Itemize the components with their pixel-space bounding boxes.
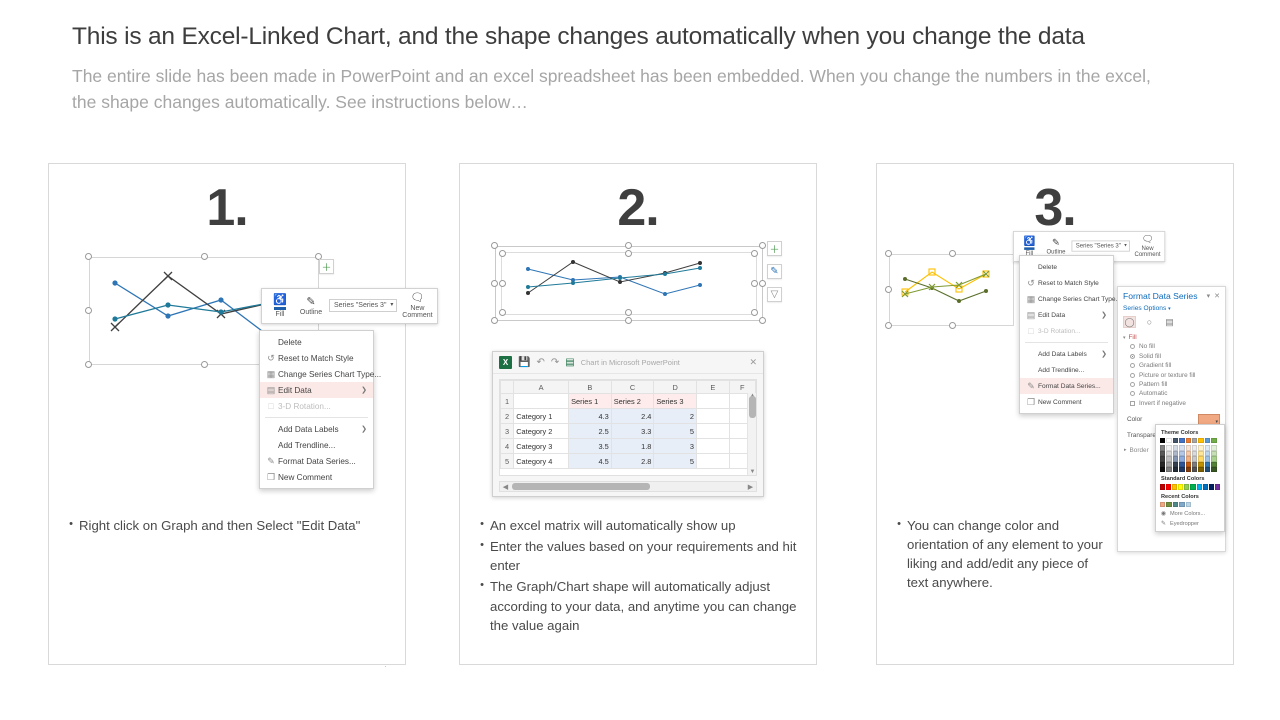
panel-number: 1. [49,178,405,238]
menu-item-label: Delete [1038,264,1107,271]
option-gradient-fill[interactable]: Gradient fill [1130,362,1220,369]
new-comment-button[interactable]: 🗨 New Comment [1135,234,1161,258]
excel-table[interactable]: A B C D E F 1 Series 1 Series 2 Series 3 [500,380,756,469]
bullet-text: The Graph/Chart shape will automatically… [490,577,810,634]
series-select[interactable]: Series "Series 3" [1071,241,1130,252]
cell-d4[interactable]: 3 [654,439,697,454]
color-swatch[interactable] [1166,502,1171,507]
border-label: Border [1130,447,1149,454]
menu-item-3-d-rotation: □3-D Rotation... [1020,323,1113,339]
chevron-down-icon[interactable]: ▾ [1207,292,1211,300]
outline-button[interactable]: ✎ Outline [1045,238,1067,255]
color-swatch[interactable] [1160,502,1165,507]
checkbox-icon [1130,401,1135,406]
color-swatch[interactable] [1179,502,1184,507]
chart-styles-button[interactable]: ✎ [767,264,782,279]
tab-series-options-icon[interactable]: ▤ [1163,316,1176,328]
menu-item-new-comment[interactable]: ❐New Comment [260,469,373,485]
cell-e4[interactable] [697,439,730,454]
fill-color-swatch [274,307,286,310]
chevron-right-icon: ❯ [361,386,367,394]
menu-item-change-series-chart-type[interactable]: ▦Change Series Chart Type... [260,366,373,382]
menu-item-label: Add Data Labels [1038,351,1093,358]
color-swatch[interactable] [1186,438,1191,443]
cell-e3[interactable] [697,424,730,439]
menu-item-label: 3-D Rotation... [1038,328,1107,335]
pane-title: Format Data Series [1123,291,1203,301]
menu-separator [1025,342,1108,343]
pencil-icon: ✎ [1052,238,1060,248]
color-swatch[interactable] [1197,484,1202,489]
cell-d5[interactable]: 5 [654,454,697,469]
color-swatch[interactable] [1192,467,1197,472]
fill-button[interactable]: ♿ Fill [1018,236,1040,257]
color-swatch[interactable] [1186,467,1191,472]
option-pattern-fill[interactable]: Pattern fill [1130,381,1220,388]
excel-window-title: Chart in Microsoft PowerPoint [581,358,744,367]
menu-item-change-series-chart-type[interactable]: ▦Change Series Chart Type... [1020,291,1113,307]
plus-icon: ＋ [770,241,780,256]
cell-c5[interactable]: 2.8 [611,454,654,469]
swatch-row[interactable] [1160,438,1220,443]
panel-1-bullets: • Right click on Graph and then Select "… [63,516,393,537]
list-item: • You can change color and orientation o… [891,516,1106,593]
chevron-down-icon: ▾ [1168,306,1171,312]
row-header[interactable]: 5 [501,454,514,469]
excel-app-icon: X [499,356,512,369]
slide-header: This is an Excel-Linked Chart, and the s… [72,22,1212,115]
bullet-dot: • [474,577,490,634]
cell-b4[interactable]: 3.5 [569,439,612,454]
cell-b3[interactable]: 2.5 [569,424,612,439]
menu-item-icon: □ [1024,326,1038,336]
table-row[interactable]: 4 Category 3 3.5 1.8 3 [501,439,756,454]
color-swatch[interactable] [1209,484,1214,489]
option-label: Solid fill [1139,353,1161,360]
menu-item-icon: ↺ [1024,278,1038,289]
option-label: Invert if negative [1139,400,1186,407]
series-select[interactable]: Series "Series 3" [329,299,397,312]
menu-item-label: 3-D Rotation... [278,402,367,411]
outline-label: Outline [300,309,322,316]
cell-d2[interactable]: 2 [654,409,697,424]
bullet-dot: • [63,516,79,535]
menu-item-label: Reset to Match Style [1038,280,1107,287]
swatch-row[interactable] [1160,467,1220,472]
color-swatch[interactable] [1203,484,1208,489]
bullet-text: Enter the values based on your requireme… [490,537,810,575]
color-swatch[interactable] [1215,484,1220,489]
menu-item-delete[interactable]: Delete [1020,259,1113,275]
chevron-right-icon: ❯ [361,425,367,433]
cell-c3[interactable]: 3.3 [611,424,654,439]
fill-label: Fill [276,311,285,318]
color-swatch[interactable] [1172,484,1177,489]
menu-item-icon: ▦ [1024,294,1038,305]
color-swatch[interactable] [1179,467,1184,472]
color-swatch[interactable] [1205,467,1210,472]
menu-item-icon: ↺ [264,353,278,364]
context-menu-3[interactable]: Delete↺Reset to Match Style▦Change Serie… [1019,255,1114,414]
cell-e2[interactable] [697,409,730,424]
menu-item-icon: □ [264,401,278,411]
new-comment-label: New Comment [402,305,432,320]
scroll-down-icon[interactable]: ▼ [748,469,757,475]
scroll-thumb[interactable] [512,483,650,490]
chevron-right-icon: ▸ [1124,447,1127,453]
menu-item-icon: ❐ [264,472,278,483]
pane-tabs[interactable]: ◯ ○ ▤ [1123,316,1220,328]
mini-toolbar-1[interactable]: ♿ Fill ✎ Outline Series "Series 3" 🗨 New… [261,288,438,324]
plus-icon: ＋ [322,259,332,274]
cell-d1[interactable]: Series 3 [654,394,697,409]
option-automatic[interactable]: Automatic [1130,390,1220,397]
eyedropper-button[interactable]: ✎ Eyedropper [1160,520,1220,527]
panel-2-bullets: • An excel matrix will automatically sho… [474,516,810,637]
cell-a3[interactable]: Category 2 [514,424,569,439]
comment-icon: 🗨 [410,292,424,304]
funnel-icon: ▽ [771,289,779,300]
chevron-right-icon: ❯ [1101,311,1107,319]
bullet-text: An excel matrix will automatically show … [490,516,810,535]
menu-item-label: Edit Data [278,386,353,395]
color-swatch[interactable] [1184,484,1189,489]
menu-item-new-comment[interactable]: ❐New Comment [1020,394,1113,410]
menu-item-label: Add Trendline... [278,441,367,450]
chart-elements-button[interactable]: ＋ [319,259,334,274]
eyedropper-label: Eyedropper [1170,521,1199,527]
swatch-row[interactable] [1160,484,1220,489]
color-swatch[interactable] [1166,467,1171,472]
scroll-left-icon[interactable]: ◀ [500,483,511,491]
chart-filters-button[interactable]: ▽ [767,287,782,302]
color-picker-dropdown[interactable]: Theme Colors Standard Colors Recent Colo… [1155,424,1225,532]
outline-button[interactable]: ✎ Outline [298,296,324,316]
menu-item-reset-to-match-style[interactable]: ↺Reset to Match Style [1020,275,1113,291]
chevron-down-icon: ▾ [1123,335,1126,341]
paint-bucket-icon: ♿ [1023,236,1035,246]
theme-colors-grid[interactable] [1160,438,1220,472]
recent-colors-title: Recent Colors [1161,494,1220,500]
menu-item-format-data-series[interactable]: ✎Format Data Series... [1020,378,1113,394]
column-header[interactable]: F [729,381,755,394]
brush-icon: ✎ [770,266,778,277]
row-header[interactable]: 4 [501,439,514,454]
menu-item-icon: ▤ [264,385,278,396]
option-label: Gradient fill [1139,362,1171,369]
column-header[interactable]: A [514,381,569,394]
menu-item-label: Change Series Chart Type... [278,370,381,379]
more-colors-label: More Colors... [1170,511,1205,517]
menu-item-icon: ✎ [1024,381,1038,392]
table-row[interactable]: 5 Category 4 4.5 2.8 5 [501,454,756,469]
cell-c2[interactable]: 2.4 [611,409,654,424]
column-header[interactable]: D [654,381,697,394]
row-header[interactable]: 1 [501,394,514,409]
new-comment-label: New Comment [1134,246,1160,259]
list-item: • Enter the values based on your require… [474,537,810,575]
menu-item-icon: ✎ [264,456,278,467]
color-swatch[interactable] [1179,438,1184,443]
column-header[interactable]: E [697,381,730,394]
list-item: • An excel matrix will automatically sho… [474,516,810,535]
option-label: No fill [1139,343,1155,350]
vertical-scrollbar[interactable]: ▲ ▼ [747,393,756,475]
color-swatch[interactable] [1160,484,1165,489]
option-solid-fill[interactable]: Solid fill [1130,353,1220,360]
color-swatch[interactable] [1173,467,1178,472]
menu-item-delete[interactable]: Delete [260,334,373,350]
bullet-dot: • [474,537,490,575]
page-subtitle: The entire slide has been made in PowerP… [72,64,1172,115]
menu-item-label: Add Trendline... [1038,367,1107,374]
menu-item-label: Delete [278,338,367,347]
redo-icon[interactable]: ↷ [551,357,559,368]
cell-c1[interactable]: Series 2 [611,394,654,409]
panel-3-bullets: • You can change color and orientation o… [891,516,1106,595]
color-swatch[interactable] [1190,484,1195,489]
pencil-icon: ✎ [306,296,315,308]
menu-item-reset-to-match-style[interactable]: ↺Reset to Match Style [260,350,373,366]
menu-item-icon: ❐ [1024,397,1038,408]
menu-item-label: Change Series Chart Type... [1038,296,1121,303]
open-in-excel-icon[interactable]: ▤ [565,357,574,368]
palette-icon: ◉ [1160,510,1167,517]
radio-icon [1130,382,1135,387]
cell-e1[interactable] [697,394,730,409]
menu-item-add-trendline[interactable]: Add Trendline... [260,437,373,453]
fill-section-header[interactable]: ▾ Fill [1123,334,1220,341]
color-swatch[interactable] [1166,438,1171,443]
color-swatch[interactable] [1198,438,1203,443]
radio-icon [1130,344,1135,349]
step-panel-1: 1. [48,163,406,665]
table-row[interactable]: 2 Category 1 4.3 2.4 2 [501,409,756,424]
page-title: This is an Excel-Linked Chart, and the s… [72,22,1212,51]
option-no-fill[interactable]: No fill [1130,343,1220,350]
list-item: • Right click on Graph and then Select "… [63,516,393,535]
cell-e5[interactable] [697,454,730,469]
menu-separator [265,417,368,418]
panel-number: 2. [460,178,816,238]
swatch-row[interactable] [1160,502,1220,507]
select-all-corner[interactable] [501,381,514,394]
color-swatch[interactable] [1205,438,1210,443]
cell-b1[interactable]: Series 1 [569,394,612,409]
radio-icon [1130,363,1135,368]
option-label: Picture or texture fill [1139,372,1195,379]
row-header[interactable]: 3 [501,424,514,439]
divider [1160,490,1220,493]
chart-elements-button[interactable]: ＋ [767,241,782,256]
menu-item-label: New Comment [278,473,367,482]
tab-effects-icon[interactable]: ○ [1143,316,1156,328]
menu-item-label: Format Data Series... [278,457,367,466]
column-header-row: A B C D E F [501,381,756,394]
color-swatch[interactable] [1173,438,1178,443]
color-swatch[interactable] [1160,467,1165,472]
chart-object-3[interactable] [889,254,1014,326]
tab-fill-icon[interactable]: ◯ [1123,316,1136,328]
menu-item-label: Format Data Series... [1038,383,1107,390]
menu-item-add-data-labels[interactable]: Add Data Labels❯ [260,421,373,437]
bullet-dot: • [891,516,907,593]
column-header[interactable]: B [569,381,612,394]
color-swatch[interactable] [1173,502,1178,507]
option-invert-if-negative[interactable]: Invert if negative [1130,400,1220,407]
menu-item-add-trendline[interactable]: Add Trendline... [1020,362,1113,378]
color-label: Color [1127,416,1198,423]
bullet-text: You can change color and orientation of … [907,516,1106,593]
context-menu-1[interactable]: Delete↺Reset to Match Style▦Change Serie… [259,330,374,489]
bullet-text: Right click on Graph and then Select "Ed… [79,516,393,535]
series-options-label[interactable]: Series Options ▾ [1123,305,1220,312]
theme-colors-title: Theme Colors [1161,430,1220,436]
menu-item-label: New Comment [1038,399,1107,406]
color-swatch[interactable] [1186,502,1191,507]
fill-group-label: Fill [1129,334,1137,341]
color-swatch[interactable] [1160,438,1165,443]
option-picture-fill[interactable]: Picture or texture fill [1130,372,1220,379]
scroll-right-icon[interactable]: ▶ [745,483,756,491]
paint-bucket-icon: ♿ [273,294,287,306]
menu-item-icon: ▤ [1024,310,1038,321]
cell-a4[interactable]: Category 3 [514,439,569,454]
chevron-right-icon: ❯ [1101,350,1107,358]
chart-plot-3 [889,254,1014,326]
list-item: • The Graph/Chart shape will automatical… [474,577,810,634]
close-icon[interactable]: ✕ [749,357,757,368]
panel-number: 3. [877,178,1233,238]
cell-b5[interactable]: 4.5 [569,454,612,469]
panel-1-illustration: ＋ ♿ Fill ✎ Outline Series "Series 3" 🗨 N… [49,234,405,524]
excel-titlebar: X 💾 ↶ ↷ ▤ Chart in Microsoft PowerPoint … [493,352,763,374]
new-comment-button[interactable]: 🗨 New Comment [402,292,432,320]
cell-c4[interactable]: 1.8 [611,439,654,454]
menu-item-label: Edit Data [1038,312,1093,319]
chart-plot-2 [495,246,763,321]
cell-a5[interactable]: Category 4 [514,454,569,469]
option-label: Pattern fill [1139,381,1167,388]
table-row[interactable]: 3 Category 2 2.5 3.3 5 [501,424,756,439]
fill-button[interactable]: ♿ Fill [267,294,293,318]
menu-item-3-d-rotation: □3-D Rotation... [260,398,373,414]
menu-item-edit-data[interactable]: ▤Edit Data❯ [1020,307,1113,323]
series-options-text: Series Options [1123,305,1166,312]
menu-item-label: Reset to Match Style [278,354,367,363]
save-icon[interactable]: 💾 [518,357,530,368]
color-swatch[interactable] [1166,484,1171,489]
menu-item-format-data-series[interactable]: ✎Format Data Series... [260,453,373,469]
horizontal-scrollbar[interactable]: ◀ ▶ [499,481,757,492]
table-row[interactable]: 1 Series 1 Series 2 Series 3 [501,394,756,409]
excel-grid[interactable]: A B C D E F 1 Series 1 Series 2 Series 3 [499,379,757,476]
menu-item-add-data-labels[interactable]: Add Data Labels❯ [1020,346,1113,362]
color-swatch[interactable] [1178,484,1183,489]
chart-object-2[interactable] [495,246,763,321]
option-label: Automatic [1139,390,1167,397]
column-header[interactable]: C [611,381,654,394]
fill-color-swatch [1024,247,1034,250]
undo-icon[interactable]: ↶ [536,357,544,368]
standard-colors-title: Standard Colors [1161,476,1220,482]
row-header[interactable]: 2 [501,409,514,424]
radio-icon [1130,354,1135,359]
cell-d3[interactable]: 5 [654,424,697,439]
radio-icon [1130,373,1135,378]
pane-header: Format Data Series ▾ ✕ [1123,291,1220,301]
cell-a1[interactable] [514,394,569,409]
divider [1160,472,1220,475]
color-swatch[interactable] [1211,438,1216,443]
color-swatch[interactable] [1211,467,1216,472]
color-swatch[interactable] [1198,467,1203,472]
close-icon[interactable]: ✕ [1214,292,1220,300]
cell-a2[interactable]: Category 1 [514,409,569,424]
cell-b2[interactable]: 4.3 [569,409,612,424]
menu-item-icon: ▦ [264,369,278,380]
color-swatch[interactable] [1192,438,1197,443]
menu-item-label: Add Data Labels [278,425,353,434]
excel-embedded-window[interactable]: X 💾 ↶ ↷ ▤ Chart in Microsoft PowerPoint … [492,351,764,497]
more-colors-button[interactable]: ◉ More Colors... [1160,510,1220,517]
bullet-dot: • [474,516,490,535]
scroll-thumb[interactable] [749,396,756,418]
menu-item-edit-data[interactable]: ▤Edit Data❯ [260,382,373,398]
eyedropper-icon: ✎ [1160,520,1167,527]
comment-icon: 🗨 [1142,234,1154,244]
radio-icon [1130,391,1135,396]
